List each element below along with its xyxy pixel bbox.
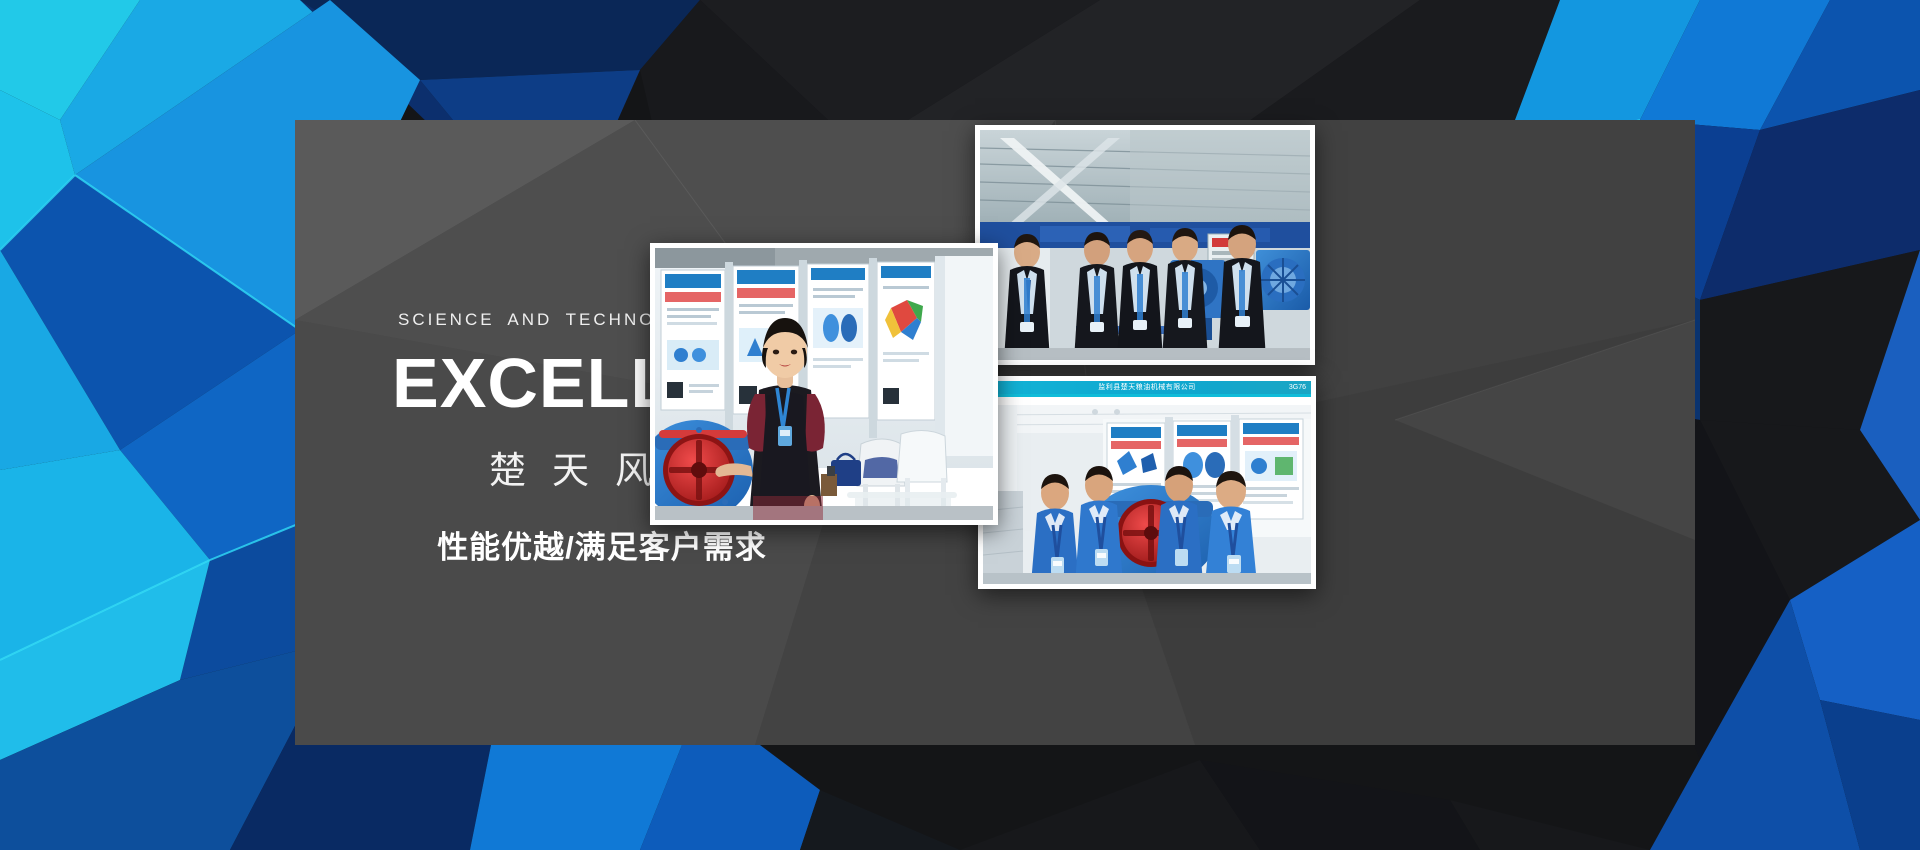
exhibition-presenter-photo xyxy=(650,243,998,525)
photo-bottomright-art xyxy=(983,381,1311,584)
photo-topright-art xyxy=(980,130,1310,360)
tagline-cn: 性能优越/满足客户需求 xyxy=(392,522,812,567)
booth-banner-text: 监利县楚天粮油机械有限公司 xyxy=(983,381,1311,394)
photo-center-art xyxy=(655,248,993,520)
exhibition-staff-blue-shirts-photo: 监利县楚天粮油机械有限公司 3G76 xyxy=(978,376,1316,589)
exhibition-team-suits-photo xyxy=(975,125,1315,365)
booth-number-label: 3G76 xyxy=(1289,381,1306,394)
promo-banner: SCIENCE AND TECHNOLOGY LEADING EXCELLENT… xyxy=(0,0,1920,850)
